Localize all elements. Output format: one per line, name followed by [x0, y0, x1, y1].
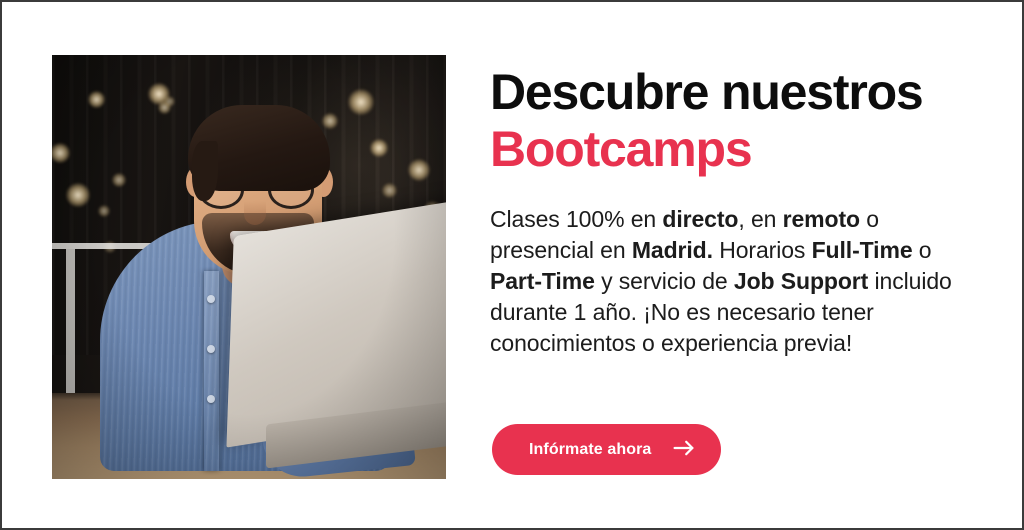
- body-copy-text: o: [913, 237, 932, 263]
- body-copy-emphasis: directo: [662, 206, 738, 232]
- body-copy-emphasis: Full-Time: [812, 237, 913, 263]
- shirt-button: [207, 395, 215, 403]
- cta-button-label: Infórmate ahora: [529, 441, 651, 459]
- hero-photo-image: [52, 55, 446, 479]
- heading-line-2: Bootcamps: [490, 121, 960, 178]
- body-copy-text: , en: [738, 206, 782, 232]
- heading-line-1: Descubre nuestros: [490, 64, 923, 120]
- body-copy-text: Clases 100% en: [490, 206, 662, 232]
- body-copy-text: y servicio de: [595, 268, 734, 294]
- arrow-right-icon: [673, 440, 695, 459]
- body-copy-emphasis: Part-Time: [490, 268, 595, 294]
- promo-banner: Descubre nuestros Bootcamps Clases 100% …: [0, 0, 1024, 530]
- page-title: Descubre nuestros Bootcamps: [490, 64, 960, 178]
- person-hair: [188, 105, 330, 191]
- body-copy-emphasis: remoto: [783, 206, 860, 232]
- shirt-button: [207, 345, 215, 353]
- cta-button[interactable]: Infórmate ahora: [492, 424, 721, 475]
- shirt-button: [207, 295, 215, 303]
- body-copy-text: Horarios: [713, 237, 812, 263]
- body-copy: Clases 100% en directo, en remoto o pres…: [490, 204, 956, 359]
- body-copy-emphasis: Job Support: [734, 268, 868, 294]
- banner-content: Descubre nuestros Bootcamps Clases 100% …: [490, 64, 960, 359]
- body-copy-emphasis: Madrid.: [632, 237, 713, 263]
- hero-photo: [52, 55, 446, 479]
